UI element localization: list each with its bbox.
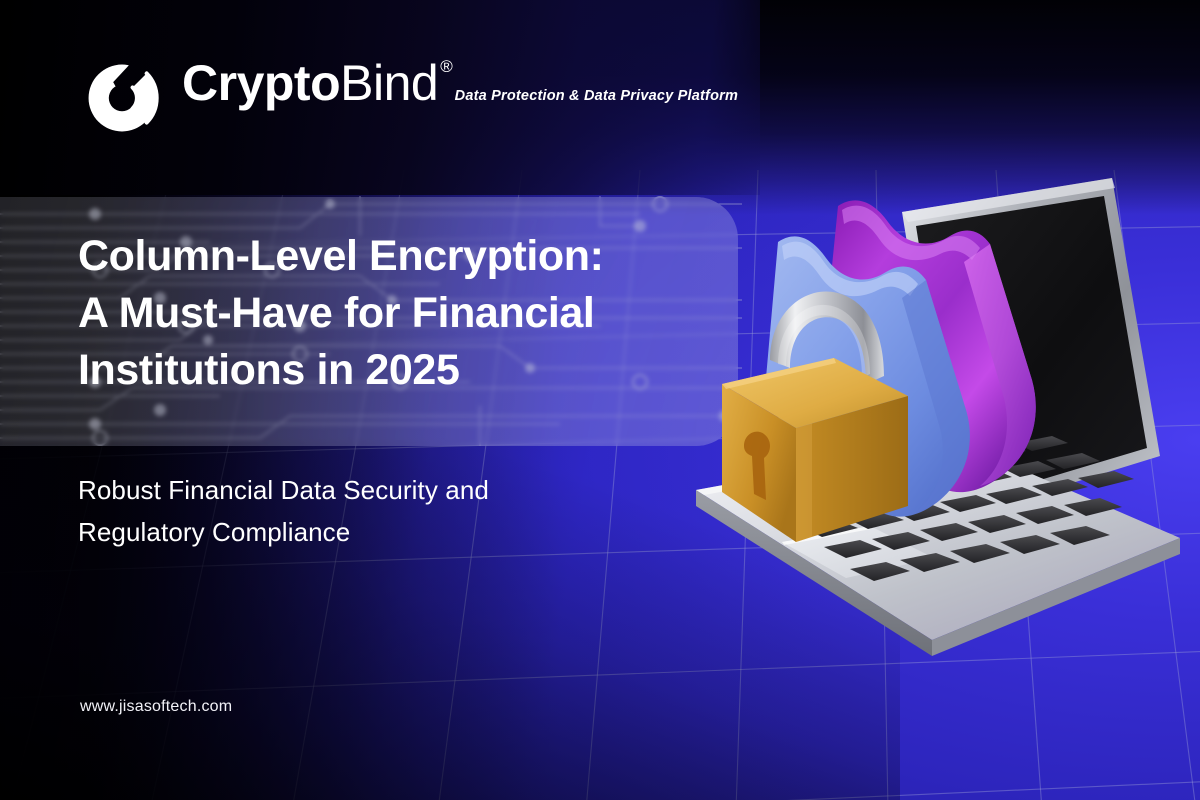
logo-word-crypto: Crypto bbox=[182, 55, 340, 111]
logo-wordmark: CryptoBind® bbox=[182, 55, 450, 111]
website-url[interactable]: www.jisasoftech.com bbox=[80, 698, 232, 716]
page-title: Column-Level Encryption: A Must-Have for… bbox=[78, 228, 728, 398]
page-subtitle: Robust Financial Data Security and Regul… bbox=[78, 470, 678, 553]
subtitle-line-2: Regulatory Compliance bbox=[78, 512, 678, 554]
headline-line-2: A Must-Have for Financial bbox=[78, 285, 728, 342]
logo-tagline: Data Protection & Data Privacy Platform bbox=[455, 88, 738, 104]
registered-trademark-icon: ® bbox=[440, 57, 452, 76]
laptop-shield-padlock-illustration bbox=[660, 170, 1200, 710]
headline-line-3: Institutions in 2025 bbox=[78, 342, 728, 399]
logo-text-block: CryptoBind® Data Protection & Data Priva… bbox=[182, 52, 738, 108]
banner-canvas: CryptoBind® Data Protection & Data Priva… bbox=[0, 0, 1200, 800]
logo-word-bind: Bind bbox=[340, 55, 438, 111]
cryptobind-logo-icon bbox=[78, 54, 166, 142]
brand-logo: CryptoBind® Data Protection & Data Priva… bbox=[78, 52, 738, 142]
subtitle-line-1: Robust Financial Data Security and bbox=[78, 470, 678, 512]
headline-line-1: Column-Level Encryption: bbox=[78, 228, 728, 285]
